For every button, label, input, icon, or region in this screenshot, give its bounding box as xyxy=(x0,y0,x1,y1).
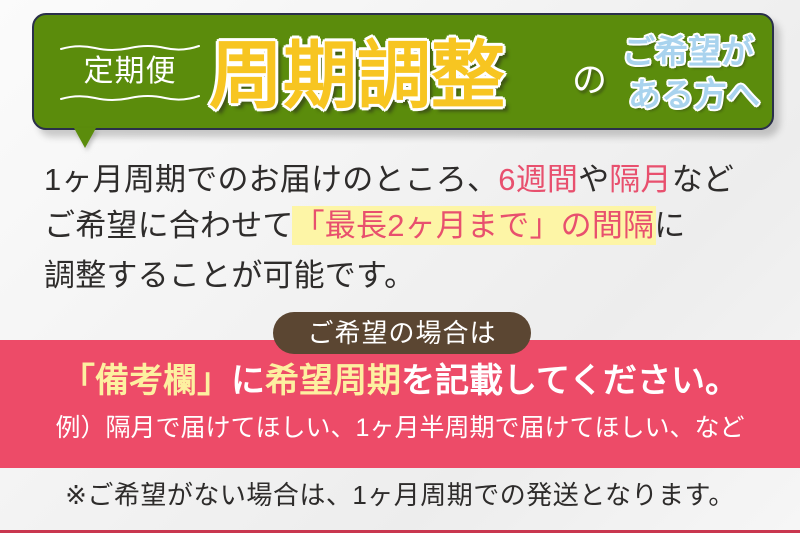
wave-line-bottom-icon xyxy=(60,93,200,102)
pink-highlight-desired-cycle: 希望周期 xyxy=(265,362,401,400)
pink-example-line: 例）隔月で届けてほしい、1ヶ月半周期で届けてほしい、など xyxy=(0,412,800,444)
body-accent-six-weeks: 6週間 xyxy=(498,162,578,197)
subscription-tag-label: 定期便 xyxy=(84,52,177,93)
body-highlight-max-two-months: 「最長2ヶ月まで」の間隔 xyxy=(294,208,655,243)
subtitle-line-2: ある方へ xyxy=(622,73,772,116)
banner-subtitle: ご希望が ある方へ xyxy=(622,29,772,117)
pink-line-tail: を記載してください。 xyxy=(401,362,739,400)
body-line-1-tail: など xyxy=(672,162,734,197)
title-particle: の xyxy=(572,59,607,103)
promo-banner: 定期便 周期調整 の ご希望が ある方へ 1ヶ月周期でのお届けのところ、6週間や… xyxy=(0,0,800,533)
body-accent-every-other-month: 隔月 xyxy=(609,162,671,197)
green-speech-bubble: 定期便 周期調整 の ご希望が ある方へ xyxy=(32,13,774,130)
pink-instruction-line: 「備考欄」に希望周期を記載してください。 xyxy=(0,360,800,402)
body-line-1: 1ヶ月周期でのお届けのところ、6週間や隔月など xyxy=(44,162,774,198)
body-line-2: ご希望に合わせて「最長2ヶ月まで」の間隔に xyxy=(44,208,774,244)
pink-line-connector-1: に xyxy=(231,362,265,400)
header-content: 定期便 周期調整 の ご希望が ある方へ xyxy=(34,15,776,128)
wave-line-top-icon xyxy=(60,43,200,52)
body-line-1-mid: や xyxy=(578,162,609,197)
pink-highlight-remarks-field: 「備考欄」 xyxy=(61,362,231,400)
body-line-3: 調整することが可能です。 xyxy=(44,258,774,294)
request-badge: ご希望の場合は xyxy=(273,312,531,354)
banner-title: 周期調整 xyxy=(209,23,505,128)
header-section: 定期便 周期調整 の ご希望が ある方へ xyxy=(0,0,800,152)
pink-instruction-band: 「備考欄」に希望周期を記載してください。 例）隔月で届けてほしい、1ヶ月半周期で… xyxy=(0,340,800,468)
body-section: 1ヶ月周期でのお届けのところ、6週間や隔月など ご希望に合わせて「最長2ヶ月まで… xyxy=(0,150,800,302)
body-line-2-part-1: ご希望に合わせて xyxy=(44,208,294,243)
body-line-1-part-1: 1ヶ月周期でのお届けのところ、 xyxy=(44,162,498,197)
footer-note: ※ご希望がない場合は、1ヶ月周期での発送となります。 xyxy=(0,478,800,512)
subscription-tag: 定期便 xyxy=(56,31,204,113)
body-line-2-tail: に xyxy=(654,208,685,243)
subtitle-line-1: ご希望が xyxy=(622,30,772,73)
speech-bubble-tail xyxy=(74,128,96,148)
request-badge-label: ご希望の場合は xyxy=(307,320,496,346)
